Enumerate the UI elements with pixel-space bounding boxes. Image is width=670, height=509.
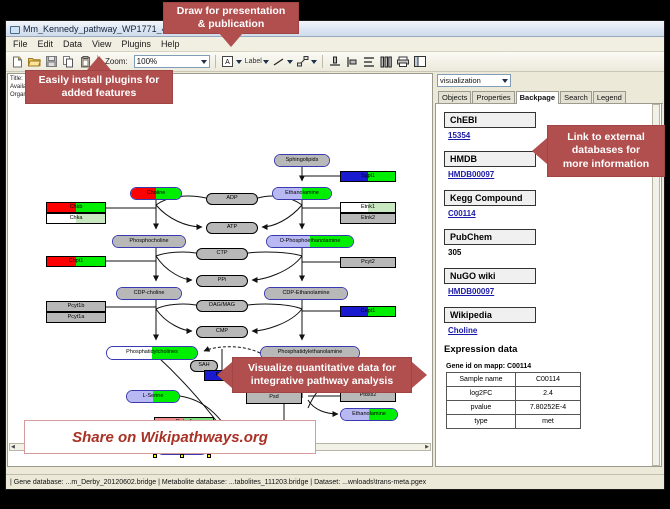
gene-id-line: Gene id on mapp: C00114 xyxy=(446,363,661,370)
kegg-link[interactable]: C00114 xyxy=(448,209,661,218)
pathway-node-etnk2[interactable]: Etnk2 xyxy=(340,213,396,224)
callout-plugins-arrow-icon xyxy=(87,56,111,70)
visualization-combobox[interactable]: visualization xyxy=(437,74,511,87)
tab-legend[interactable]: Legend xyxy=(593,91,626,103)
callout-visualize-arrow-icon xyxy=(217,362,232,388)
callout-plugins: Easily install plugins for added feature… xyxy=(25,70,173,104)
pubchem-header: PubChem xyxy=(444,229,536,245)
node-label: CTP xyxy=(217,251,228,257)
pathway-node-atp[interactable]: ATP xyxy=(206,222,258,234)
pvalue-key: pvalue xyxy=(447,401,516,415)
node-label: Etnk2 xyxy=(361,216,375,222)
pathway-canvas[interactable]: Title: Availa Organi xyxy=(7,73,433,467)
pathway-node-etnk1[interactable]: Etnk1 xyxy=(340,202,396,213)
sample-name-key: Sample name xyxy=(447,373,516,387)
node-label: Chka xyxy=(70,216,83,222)
table-row: Sample name C00114 xyxy=(447,373,581,387)
pathway-node-chkb[interactable]: Chkb xyxy=(46,202,106,213)
callout-plugins-line1: Easily install plugins for xyxy=(39,74,160,87)
node-label: Ethanolamine xyxy=(285,191,319,197)
status-text: | Gene database: ...m_Derby_20120602.bri… xyxy=(6,479,426,486)
pathway-node-phosphocholine[interactable]: Phosphocholine xyxy=(112,235,186,248)
hmdb-header: HMDB xyxy=(444,151,536,167)
screenshot-root: Mm_Kennedy_pathway_WP1771_45176.gpml Fil… xyxy=(0,0,670,509)
table-row: pvalue 7.80252E-4 xyxy=(447,401,581,415)
node-label: Sgpl1 xyxy=(361,174,375,180)
tab-backpage[interactable]: Backpage xyxy=(516,91,559,104)
expression-table: Sample name C00114 log2FC 2.4 pvalue 7.8… xyxy=(446,372,581,429)
new-file-icon[interactable] xyxy=(10,55,24,69)
node-label: Phosphatidylethanolamine xyxy=(278,350,343,356)
node-label: Ptdss2 xyxy=(360,393,377,399)
zoom-value: 100% xyxy=(137,57,157,66)
selection-handle[interactable] xyxy=(153,454,157,458)
pathway-node-phosphatidylcholines[interactable]: Phosphatidylcholines xyxy=(106,346,198,360)
visualization-value: visualization xyxy=(440,76,481,85)
pathway-node-choline-top[interactable]: Choline xyxy=(130,187,182,200)
log2fc-value: 2.4 xyxy=(516,387,581,401)
table-row: log2FC 2.4 xyxy=(447,387,581,401)
line-dropdown[interactable] xyxy=(272,55,293,69)
pathway-node-l-serine-left[interactable]: L-Serine xyxy=(126,390,180,403)
nugo-header: NuGO wiki xyxy=(444,268,536,284)
pathway-node-cmp[interactable]: CMP xyxy=(196,326,248,338)
callout-share-text: Share on Wikipathways.org xyxy=(72,429,268,446)
node-label: ADP xyxy=(226,196,237,202)
sample-name-value: C00114 xyxy=(516,373,581,387)
title-bar: Mm_Kennedy_pathway_WP1771_45176.gpml xyxy=(6,21,664,37)
node-label: Chkb xyxy=(70,205,83,211)
toolbar-separator xyxy=(215,55,216,68)
menu-edit[interactable]: Edit xyxy=(37,39,55,49)
pathway-node-sgpl1[interactable]: Sgpl1 xyxy=(340,171,396,182)
pathway-node-ppi[interactable]: PPi xyxy=(196,275,248,287)
callout-draw: Draw for presentation & publication xyxy=(163,2,299,34)
node-label: Psd xyxy=(269,395,278,401)
callout-link-line3: more information xyxy=(563,158,649,171)
shape-icon xyxy=(296,55,310,69)
type-value: met xyxy=(516,415,581,429)
callout-visualize: Visualize quantitative data for integrat… xyxy=(232,357,412,393)
node-label: Chpt1 xyxy=(69,259,84,265)
pathway-node-ethanolamine-top[interactable]: Ethanolamine xyxy=(272,187,332,200)
pathway-node-cept1[interactable]: Cept1 xyxy=(340,306,396,317)
scroll-right-icon[interactable]: ▶ xyxy=(424,444,430,450)
zoom-combobox[interactable]: 100% xyxy=(134,55,210,68)
table-row: type met xyxy=(447,415,581,429)
align-top-icon[interactable] xyxy=(328,55,342,69)
callout-visualize-line2: integrative pathway analysis xyxy=(251,375,393,388)
pubchem-value: 305 xyxy=(448,248,661,257)
node-label: L-Serine xyxy=(143,394,164,400)
pathway-node-chpt1[interactable]: Chpt1 xyxy=(46,256,106,267)
line-icon xyxy=(272,55,286,69)
scroll-left-icon[interactable]: ◀ xyxy=(10,444,16,450)
pathway-node-pcyt1a[interactable]: Pcyt1a xyxy=(46,312,106,323)
pathway-node-adp[interactable]: ADP xyxy=(206,193,258,205)
font-dropdown[interactable]: A xyxy=(221,55,242,69)
chevron-down-icon xyxy=(287,60,293,64)
node-label: Pcyt2 xyxy=(361,260,375,266)
chevron-down-icon xyxy=(311,60,317,64)
tab-search[interactable]: Search xyxy=(560,91,592,103)
tab-properties[interactable]: Properties xyxy=(472,91,514,103)
chebi-header: ChEBI xyxy=(444,112,536,128)
node-label: Phosphatidylcholines xyxy=(126,350,178,356)
pathway-node-o-phosphoethanolamine[interactable]: O-Phosphoethanolamine xyxy=(266,235,354,248)
pathway-node-chka[interactable]: Chka xyxy=(46,213,106,224)
layout-icon[interactable] xyxy=(413,55,427,69)
svg-text:A: A xyxy=(225,59,230,66)
nugo-link[interactable]: HMDB00097 xyxy=(448,287,661,296)
open-folder-icon[interactable] xyxy=(27,55,41,69)
callout-link: Link to external databases for more info… xyxy=(547,125,665,177)
callout-share: Share on Wikipathways.org xyxy=(24,420,316,454)
side-tabs: Objects Properties Backpage Search Legen… xyxy=(435,90,663,104)
menu-help[interactable]: Help xyxy=(160,39,181,49)
callout-visualize-line1: Visualize quantitative data for xyxy=(248,362,396,375)
node-label: CMP xyxy=(216,329,228,335)
node-label: CDP-Ethanolamine xyxy=(282,291,329,297)
menu-view[interactable]: View xyxy=(91,39,112,49)
callout-draw-line2: & publication xyxy=(198,18,265,31)
callout-visualize-arrow-right-icon xyxy=(412,362,427,388)
pathway-node-dagmag[interactable]: DAG/MAG xyxy=(196,300,248,312)
label-dropdown-text: Label xyxy=(245,58,262,65)
expression-data-heading: Expression data xyxy=(444,344,661,355)
menu-plugins[interactable]: Plugins xyxy=(120,39,152,49)
pathway-node-cdp-choline[interactable]: CDP-choline xyxy=(116,287,182,300)
chevron-down-icon xyxy=(201,60,207,64)
callout-link-line1: Link to external xyxy=(567,131,645,144)
callout-link-line2: databases for xyxy=(572,144,640,157)
node-label: Etnk1 xyxy=(361,205,375,211)
chevron-down-icon xyxy=(502,79,508,83)
log2fc-key: log2FC xyxy=(447,387,516,401)
selection-handle[interactable] xyxy=(207,454,211,458)
node-label: Sphingolipids xyxy=(286,158,319,164)
node-label: ATP xyxy=(227,225,237,231)
pathway-node-sphingolipids[interactable]: Sphingolipids xyxy=(274,154,330,167)
chevron-down-icon xyxy=(236,60,242,64)
app-icon xyxy=(9,24,19,34)
wikipedia-link[interactable]: Choline xyxy=(448,326,661,335)
node-label: Pcyt1a xyxy=(68,315,85,321)
node-label: O-Phosphoethanolamine xyxy=(280,239,341,245)
save-icon[interactable] xyxy=(44,55,58,69)
pathway-node-cdp-ethanolamine[interactable]: CDP-Ethanolamine xyxy=(264,287,348,300)
pathway-node-pcyt1b[interactable]: Pcyt1b xyxy=(46,301,106,312)
label-dropdown[interactable]: Label xyxy=(245,58,269,65)
kegg-header: Kegg Compound xyxy=(444,190,536,206)
pathway-node-ethanolamine-bottom[interactable]: Ethanolamine xyxy=(340,408,398,421)
status-bar: | Gene database: ...m_Derby_20120602.bri… xyxy=(6,474,664,489)
align-left-icon[interactable] xyxy=(345,55,359,69)
chevron-down-icon xyxy=(263,60,269,64)
node-label: Ethanolamine xyxy=(352,412,386,418)
node-label: PPi xyxy=(218,278,227,284)
shape-dropdown[interactable] xyxy=(296,55,317,69)
node-label: Choline xyxy=(147,191,166,197)
callout-draw-line1: Draw for presentation xyxy=(177,5,286,18)
pathway-node-ctp[interactable]: CTP xyxy=(196,248,248,260)
node-label: CDP-choline xyxy=(134,291,165,297)
toolbar-separator xyxy=(322,55,323,68)
node-label: SAH xyxy=(198,363,209,369)
callout-link-arrow-icon xyxy=(532,138,547,164)
font-icon: A xyxy=(221,55,235,69)
menu-data[interactable]: Data xyxy=(62,39,83,49)
pvalue-value: 7.80252E-4 xyxy=(516,401,581,415)
node-label: Phosphocholine xyxy=(129,239,168,245)
tab-objects[interactable]: Objects xyxy=(438,91,471,103)
node-label: Cept1 xyxy=(361,309,376,315)
callout-plugins-line2: added features xyxy=(62,87,137,100)
menu-file[interactable]: File xyxy=(12,39,29,49)
wikipedia-header: Wikipedia xyxy=(444,307,536,323)
distribute-icon[interactable] xyxy=(379,55,393,69)
node-label: Pcyt1b xyxy=(68,304,85,310)
copy-icon[interactable] xyxy=(61,55,75,69)
callout-draw-arrow-icon xyxy=(219,33,243,47)
print-icon[interactable] xyxy=(396,55,410,69)
menu-bar: File Edit Data View Plugins Help xyxy=(6,37,664,52)
align-rows-icon[interactable] xyxy=(362,55,376,69)
type-key: type xyxy=(447,415,516,429)
node-label: DAG/MAG xyxy=(209,303,235,309)
pathway-node-psd[interactable]: Psd xyxy=(246,392,302,404)
pathway-node-pcyt2[interactable]: Pcyt2 xyxy=(340,257,396,268)
selection-handle[interactable] xyxy=(180,454,184,458)
